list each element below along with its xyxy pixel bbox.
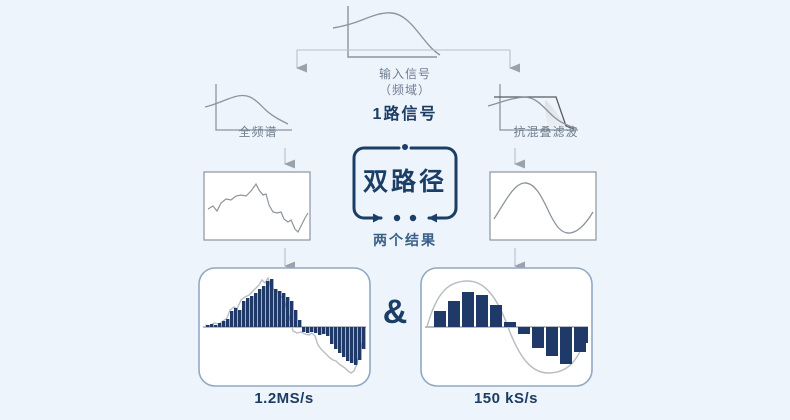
input-signal-label: 输入信号 （频域） [343,66,467,98]
diagram-graphics [0,0,790,420]
box-full-spectrum-waveform [204,172,310,240]
full-spectrum-label: 全频谱 [203,124,313,140]
card-high-rate-sampling [199,268,370,386]
diagram-canvas: 输入信号 （频域） 1路信号 全频谱 抗混叠滤波 双路径 两个结果 & 1.2M… [0,0,790,420]
dual-path-label: 双路径 [348,162,462,198]
chart-input-spectrum [333,6,440,57]
input-signal-label-line2: （频域） [343,82,467,98]
card-low-rate-sampling [421,268,592,386]
one-channel-signal-label: 1路信号 [345,100,465,124]
box-filtered-waveform [490,172,596,240]
ampersand-conjunction: & [378,295,412,329]
low-rate-label: 150 kS/s [446,390,566,407]
two-results-label: 两个结果 [345,230,465,250]
anti-alias-filter-label: 抗混叠滤波 [486,124,606,140]
high-rate-label: 1.2MS/s [224,390,344,407]
input-signal-label-line1: 输入信号 [343,66,467,82]
